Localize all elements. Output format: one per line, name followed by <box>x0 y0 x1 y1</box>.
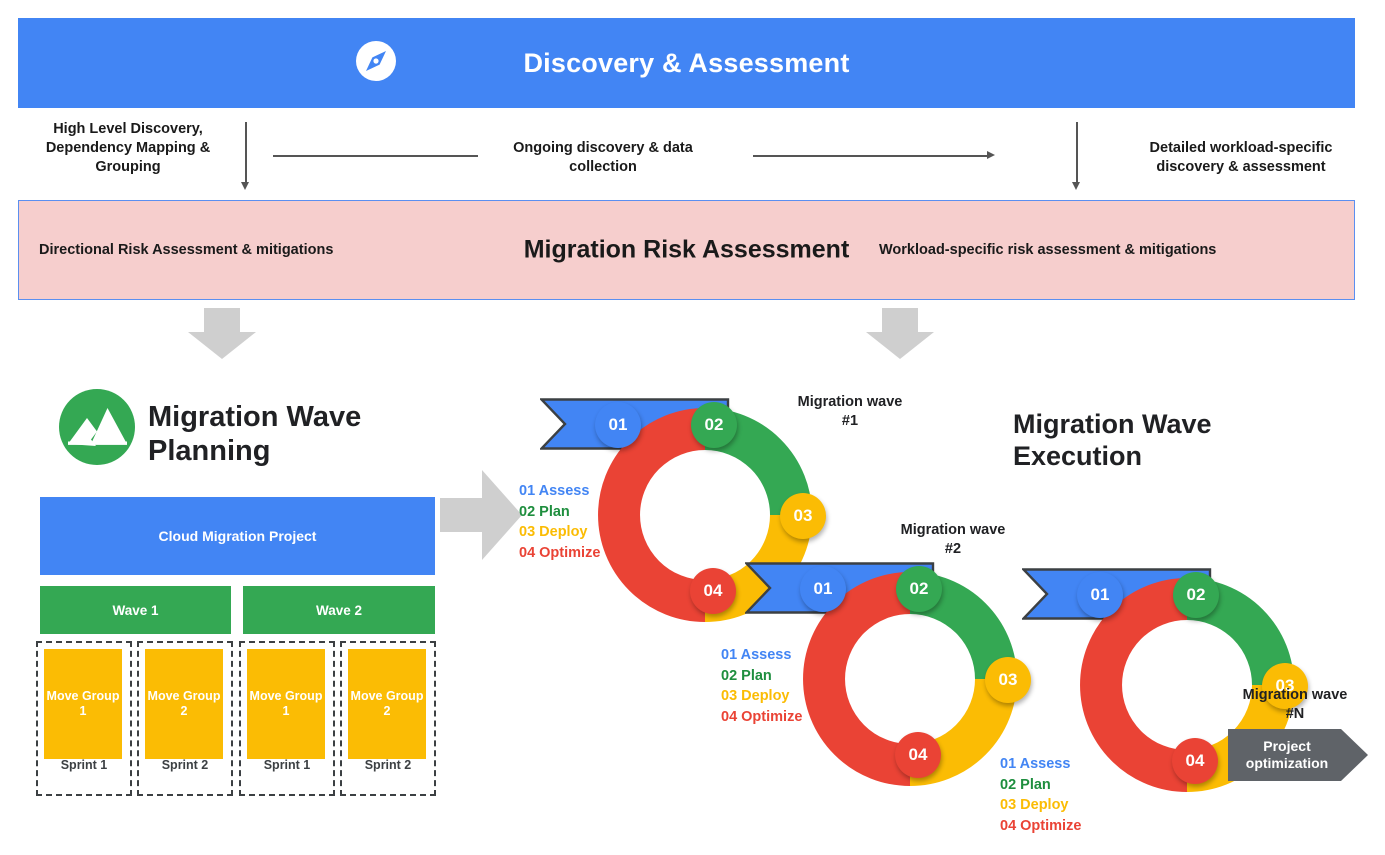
sprint-container: Move Group 1 Sprint 1 <box>36 641 132 796</box>
legend-item-03: 03 Deploy <box>519 522 600 543</box>
arrow-down-execution <box>866 308 934 359</box>
execution-title: Migration Wave Execution <box>1013 408 1263 473</box>
arrow-down-right <box>1072 182 1080 190</box>
legend-item-02: 02 Plan <box>721 666 802 687</box>
badge-02: 02 <box>896 566 942 612</box>
legend-wave-2: 01 Assess 02 Plan 03 Deploy 04 Optimize <box>721 645 802 728</box>
connector-line-right <box>753 155 987 157</box>
connector-line-left <box>273 155 478 157</box>
arrow-down-left <box>241 182 249 190</box>
sprint-label: Sprint 1 <box>241 758 333 772</box>
compass-icon <box>355 40 397 82</box>
legend-wave-n: 01 Assess 02 Plan 03 Deploy 04 Optimize <box>1000 754 1081 837</box>
legend-item-01: 01 Assess <box>721 645 802 666</box>
connector-label-middle: Ongoing discovery & data collection <box>490 139 716 177</box>
badge-01: 01 <box>800 566 846 612</box>
legend-item-03: 03 Deploy <box>721 686 802 707</box>
legend-item-03: 03 Deploy <box>1000 795 1081 816</box>
badge-02: 02 <box>1173 572 1219 618</box>
legend-item-04: 04 Optimize <box>721 707 802 728</box>
badge-04: 04 <box>895 732 941 778</box>
badge-01: 01 <box>1077 572 1123 618</box>
cloud-migration-project-box: Cloud Migration Project <box>40 497 435 575</box>
sprint-label: Sprint 1 <box>38 758 130 772</box>
badge-03: 03 <box>780 493 826 539</box>
legend-item-04: 04 Optimize <box>1000 816 1081 837</box>
legend-item-04: 04 Optimize <box>519 543 600 564</box>
connector-label-left: High Level Discovery, Dependency Mapping… <box>22 120 234 177</box>
sprint-container: Move Group 1 Sprint 1 <box>239 641 335 796</box>
legend-item-01: 01 Assess <box>1000 754 1081 775</box>
move-group-box: Move Group 2 <box>145 649 223 759</box>
move-group-box: Move Group 1 <box>44 649 122 759</box>
sprint-label: Sprint 2 <box>139 758 231 772</box>
badge-01: 01 <box>595 402 641 448</box>
wave-label-n: Migration wave #N <box>1240 686 1350 723</box>
legend-item-02: 02 Plan <box>519 502 600 523</box>
project-optimization-label: Project optimization <box>1228 729 1346 781</box>
legend-item-02: 02 Plan <box>1000 775 1081 796</box>
divider-line-right <box>1076 122 1078 184</box>
move-group-box: Move Group 1 <box>247 649 325 759</box>
connector-label-right: Detailed workload-specific discovery & a… <box>1122 139 1360 177</box>
arrow-right-middle <box>987 151 995 159</box>
wave-label-1: Migration wave #1 <box>795 393 905 430</box>
legend-item-01: 01 Assess <box>519 481 600 502</box>
badge-04: 04 <box>1172 738 1218 784</box>
wave-label-2: Migration wave #2 <box>898 521 1008 558</box>
arrow-down-planning <box>188 308 256 359</box>
sprint-container: Move Group 2 Sprint 2 <box>340 641 436 796</box>
wave-box-2: Wave 2 <box>243 586 435 634</box>
move-group-box: Move Group 2 <box>348 649 426 759</box>
migration-risk-assessment-band: Directional Risk Assessment & mitigation… <box>18 200 1355 300</box>
risk-label-right: Workload-specific risk assessment & miti… <box>879 242 1216 258</box>
sprint-label: Sprint 2 <box>342 758 434 772</box>
divider-line-left <box>245 122 247 184</box>
badge-04: 04 <box>690 568 736 614</box>
sprint-container: Move Group 2 Sprint 2 <box>137 641 233 796</box>
discovery-assessment-band: Discovery & Assessment <box>18 18 1355 108</box>
wave-box-1: Wave 1 <box>40 586 231 634</box>
badge-02: 02 <box>691 402 737 448</box>
arrow-right-to-execution <box>440 470 522 565</box>
mountain-icon <box>58 388 136 466</box>
legend-wave-1: 01 Assess 02 Plan 03 Deploy 04 Optimize <box>519 481 600 564</box>
page-title: Discovery & Assessment <box>523 48 849 79</box>
planning-title: Migration Wave Planning <box>148 400 428 468</box>
